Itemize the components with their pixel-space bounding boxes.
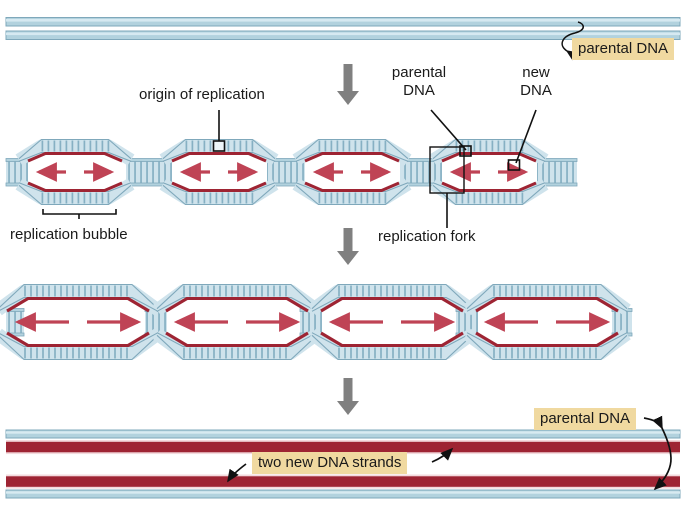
replication-bubble-bracket [43,209,116,214]
origin-marker-square [214,141,225,151]
stage-arrow-head [337,401,359,415]
parental-dna-callout-line1: parental [383,64,455,81]
new-dna-marker-square [509,160,520,170]
parental-dna-callout-line2: DNA [383,82,455,99]
stage-3-bubbles-large [0,285,632,360]
parental-dna-top-label: parental DNA [572,38,674,60]
new-strand-lower [172,183,266,191]
new-strand-upper [166,299,308,312]
new-strand-upper [476,299,618,312]
new-strand-lower [476,333,618,346]
diagram-canvas [0,0,692,508]
replication-bubble-1 [0,285,158,360]
replication-bubble-1 [19,140,131,205]
new-strand-upper [442,154,536,162]
stage-arrow-3 [337,378,359,415]
new-dna-callout-line1: new [505,64,567,81]
new-strand-upper [172,154,266,162]
replication-bubble-3 [296,140,408,205]
stage-arrow-head [337,91,359,105]
two-new-dna-strands-label: two new DNA strands [252,452,407,474]
stage-arrow-1 [337,64,359,105]
origin-of-replication-label: origin of replication [139,86,265,103]
replication-bubble-label: replication bubble [10,226,128,243]
new-strand-upper [305,154,399,162]
parental-dna-bottom-label: parental DNA [534,408,636,430]
new-strand-upper [321,299,463,312]
stage-arrow-2 [337,228,359,265]
replication-bubble-3 [312,285,472,360]
new-strand-lower [7,333,149,346]
new-strand-lower [442,183,536,191]
replication-bubble-2 [157,285,317,360]
stage-arrow-shaft [344,228,353,252]
replication-fork-label: replication fork [378,228,476,245]
new-strand-lower [166,333,308,346]
stage-2-bubbles-small [6,140,577,205]
new-strand-lower [305,183,399,191]
new-strand-upper [7,299,149,312]
replication-bubble-4 [467,285,627,360]
new-dna-callout-line2: DNA [505,82,567,99]
stage-arrow-shaft [344,64,353,92]
stage-1-intact-dna [6,18,680,40]
new-strand-lower [28,183,122,191]
replication-bubble-4 [433,140,545,205]
stage-arrow-shaft [344,378,353,402]
dna-replication-diagram: parental DNA origin of replication paren… [0,0,692,508]
new-strand-upper [28,154,122,162]
stage-arrow-head [337,251,359,265]
new-strand-lower [321,333,463,346]
stage-arrows-group [337,64,359,415]
